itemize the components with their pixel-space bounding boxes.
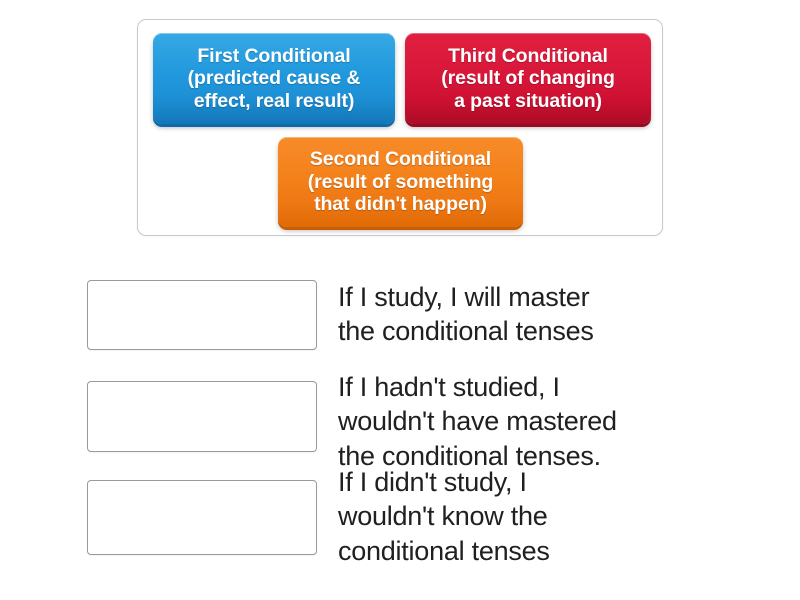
answer-tiles-panel: First Conditional (predicted cause & eff… (137, 19, 663, 236)
prompt-text-2: If I hadn't studied, I wouldn't have mas… (338, 370, 738, 473)
answer-tiles-row: First Conditional (predicted cause & eff… (138, 20, 662, 235)
answer-tile-first-conditional-label: First Conditional (predicted cause & eff… (180, 45, 369, 113)
drop-zone-3[interactable] (87, 480, 317, 555)
drop-zone-1[interactable] (87, 280, 317, 350)
drop-zone-2[interactable] (87, 381, 317, 452)
answer-tile-second-conditional-label: Second Conditional (result of something … (300, 148, 501, 216)
answer-tile-first-conditional[interactable]: First Conditional (predicted cause & eff… (153, 33, 395, 124)
prompt-text-3: If I didn't study, I wouldn't know the c… (338, 465, 738, 568)
answer-tile-third-conditional-label: Third Conditional (result of changing a … (433, 45, 623, 113)
answer-tile-third-conditional[interactable]: Third Conditional (result of changing a … (405, 33, 651, 124)
prompt-text-1: If I study, I will master the conditiona… (338, 280, 738, 349)
answer-tile-second-conditional[interactable]: Second Conditional (result of something … (278, 137, 523, 227)
